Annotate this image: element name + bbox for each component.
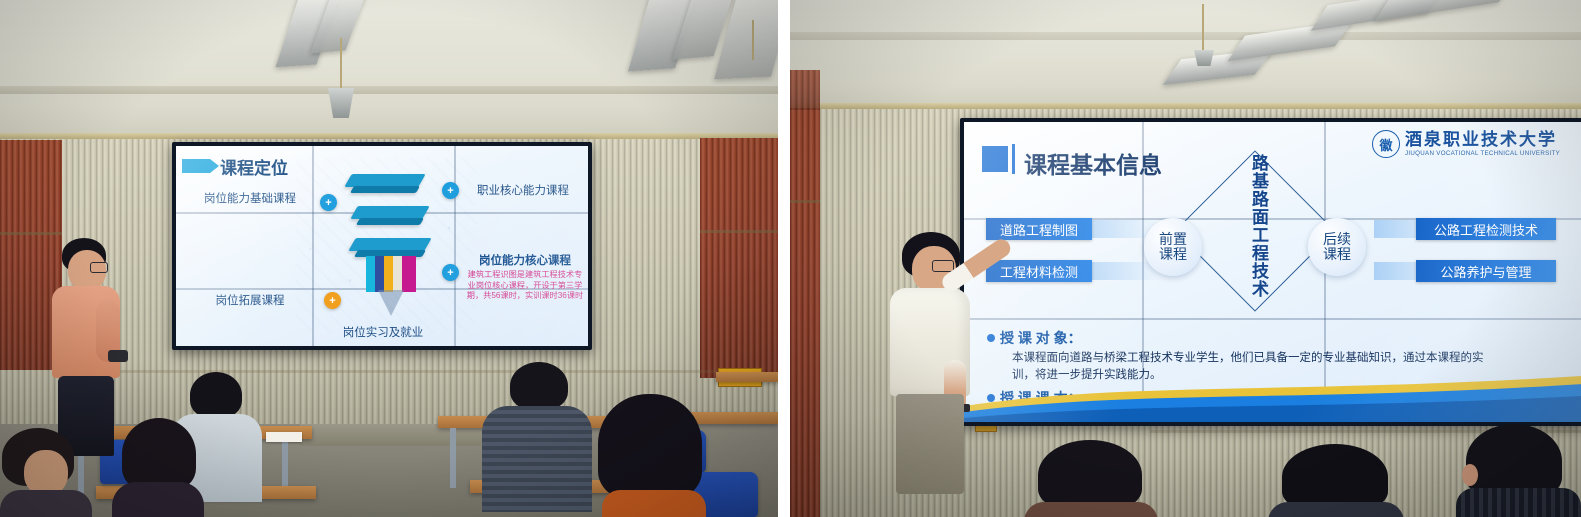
student (0, 428, 90, 517)
wood-wall-section (700, 138, 778, 378)
ribbon-segment (350, 186, 420, 193)
label-bottom-center: 岗位实习及就业 (312, 324, 454, 340)
torso-shirt (1456, 488, 1581, 517)
wave-icon (964, 376, 1581, 422)
hair (1466, 424, 1562, 498)
wall-rail (790, 200, 820, 203)
followup-circle-label: 后续课程 (1320, 232, 1354, 263)
left-display-bezel: 课程定位 岗位能力基础课程 职业核心能力课程 岗位拓展课程 岗位实习及就业 + … (172, 142, 592, 350)
left-slide-title: 课程定位 (220, 154, 288, 179)
wall-rail (0, 232, 62, 235)
pencil-tip (378, 290, 404, 316)
torso-shirt (112, 482, 204, 517)
hair (1038, 440, 1142, 510)
right-heading: 岗位能力核心课程 (464, 254, 586, 268)
wood-wall-section (790, 70, 820, 110)
university-name-cn: 酒泉职业技术大学 (1405, 131, 1560, 148)
label-bottom-left: 岗位拓展课程 (190, 292, 310, 308)
title-arrow-marker (182, 159, 210, 173)
followup-course-1[interactable]: 公路工程检测技术 (1416, 218, 1556, 240)
left-classroom-photo: 课程定位 岗位能力基础课程 职业核心能力课程 岗位拓展课程 岗位实习及就业 + … (0, 0, 778, 517)
desk-leg (450, 428, 456, 488)
right-block: 岗位能力核心课程 建筑工程识图是建筑工程技术专业岗位核心课程，开设于第三学期，共… (464, 254, 586, 301)
torso-shirt (482, 406, 592, 512)
right-classroom-photo: 课程基本信息 徽 酒泉职业技术大学 JIUQUAN VOCATIONAL TEC… (790, 0, 1581, 517)
university-name-en: JIUQUAN VOCATIONAL TECHNICAL UNIVERSITY (1405, 151, 1560, 157)
torso-shirt (0, 490, 92, 517)
photo-gutter (778, 0, 790, 517)
university-seal-icon: 徽 (1372, 130, 1400, 158)
followup-circle: 后续课程 (1308, 218, 1366, 276)
presenter-teacher (888, 232, 1008, 482)
node-plus-mid-right[interactable]: + (442, 264, 459, 281)
student (482, 362, 592, 512)
glasses (90, 262, 108, 273)
student (1266, 444, 1406, 517)
wall-rail (62, 370, 762, 373)
lamp-hanger-wire (752, 20, 754, 60)
ceiling (790, 0, 1581, 112)
wood-wall-section (790, 108, 820, 517)
student (1456, 424, 1581, 517)
label-top-right: 职业核心能力课程 (464, 182, 582, 198)
ceiling-beam (790, 32, 1581, 40)
node-plus-top-right[interactable]: + (442, 182, 459, 199)
wall-cap-moulding (790, 103, 1581, 109)
pencil-spiral-graphic (328, 170, 444, 320)
ceiling-beam (0, 86, 778, 94)
hair (598, 394, 702, 498)
hair (1282, 444, 1388, 510)
title-accent-bar (982, 146, 1008, 172)
prereq-circle: 前置课程 (1144, 218, 1202, 276)
slide-wave-decoration (964, 376, 1581, 422)
right-slide-screen[interactable]: 课程基本信息 徽 酒泉职业技术大学 JIUQUAN VOCATIONAL TEC… (964, 122, 1581, 422)
legs-trousers (896, 394, 964, 494)
lamp-hanger-wire (1202, 4, 1204, 52)
right-description: 建筑工程识图是建筑工程技术专业岗位核心课程，开设于第三学期，共56课时，实训课时… (467, 270, 583, 300)
screen-seam (964, 318, 1581, 320)
section-1-heading: 授 课 对 象： (1000, 328, 1082, 348)
label-top-left: 岗位能力基础课程 (190, 190, 310, 206)
university-logo: 徽 酒泉职业技术大学 JIUQUAN VOCATIONAL TECHNICAL … (1372, 130, 1560, 158)
left-slide-screen[interactable]: 课程定位 岗位能力基础课程 职业核心能力课程 岗位拓展课程 岗位实习及就业 + … (176, 146, 588, 346)
center-course-name: 路基路面工程技术 (1246, 154, 1271, 316)
screenshot-stage: 课程定位 岗位能力基础课程 职业核心能力课程 岗位拓展课程 岗位实习及就业 + … (0, 0, 1581, 517)
hair (122, 418, 196, 490)
lamp-hanger-wire (340, 38, 342, 90)
hair (190, 372, 242, 418)
torso-shirt (1268, 502, 1404, 517)
hair (510, 362, 568, 410)
right-slide-title: 课程基本信息 (1024, 146, 1162, 180)
wall-rail (700, 230, 778, 233)
ribbon-segment (356, 218, 424, 225)
right-display-bezel: 课程基本信息 徽 酒泉职业技术大学 JIUQUAN VOCATIONAL TEC… (960, 118, 1581, 426)
title-accent-line (1012, 144, 1015, 174)
student (112, 418, 204, 517)
torso-shirt (1024, 502, 1158, 517)
ear (1462, 464, 1478, 486)
student (592, 394, 712, 517)
student (1024, 440, 1158, 517)
hand-holding-phone (108, 350, 128, 362)
student-desk (716, 372, 778, 382)
followup-course-2[interactable]: 公路养护与管理 (1416, 260, 1556, 282)
pencil-barrel (366, 256, 416, 292)
notebook-paper (266, 432, 302, 442)
wall-cap-moulding (0, 133, 778, 139)
prereq-circle-label: 前置课程 (1156, 232, 1190, 263)
torso-shirt (602, 490, 706, 517)
